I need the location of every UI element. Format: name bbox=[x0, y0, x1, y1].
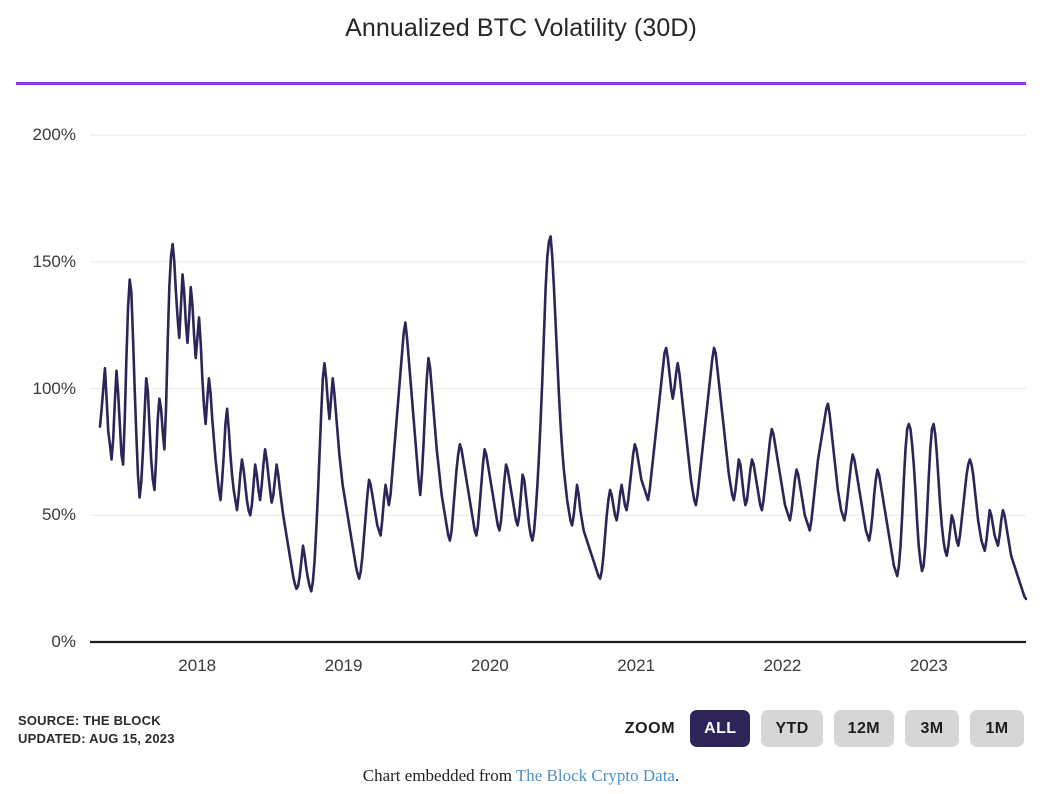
x-tick-label-2023: 2023 bbox=[910, 656, 948, 676]
source-text: SOURCE: THE BLOCK bbox=[18, 712, 175, 730]
volatility-series-line bbox=[100, 236, 1026, 599]
zoom-range-control[interactable]: ZOOM ALLYTD12M3M1M bbox=[625, 710, 1024, 747]
x-tick-label-2018: 2018 bbox=[178, 656, 216, 676]
x-tick-label-2021: 2021 bbox=[617, 656, 655, 676]
updated-text: UPDATED: AUG 15, 2023 bbox=[18, 730, 175, 748]
embed-caption: Chart embedded from The Block Crypto Dat… bbox=[0, 766, 1042, 786]
page-title: Annualized BTC Volatility (30D) bbox=[0, 14, 1042, 43]
zoom-button-12m[interactable]: 12M bbox=[834, 710, 894, 747]
volatility-line-chart bbox=[0, 96, 1042, 696]
zoom-button-1m[interactable]: 1M bbox=[970, 710, 1024, 747]
y-tick-label-100: 100% bbox=[33, 379, 76, 399]
title-divider bbox=[16, 82, 1026, 85]
the-block-crypto-data-link[interactable]: The Block Crypto Data bbox=[516, 766, 675, 785]
x-axis: 201820192020202120222023 bbox=[0, 648, 1042, 682]
y-axis: 0%50%100%150%200% bbox=[0, 96, 88, 656]
y-tick-label-200: 200% bbox=[33, 125, 76, 145]
chart-source-block: SOURCE: THE BLOCK UPDATED: AUG 15, 2023 bbox=[18, 712, 175, 748]
x-tick-label-2019: 2019 bbox=[325, 656, 363, 676]
chart-card: Annualized BTC Volatility (30D) 0%50%100… bbox=[0, 0, 1042, 794]
zoom-button-3m[interactable]: 3M bbox=[905, 710, 959, 747]
zoom-button-ytd[interactable]: YTD bbox=[761, 710, 822, 747]
embed-caption-prefix: Chart embedded from bbox=[363, 766, 516, 785]
x-tick-label-2020: 2020 bbox=[471, 656, 509, 676]
plot-area bbox=[0, 96, 1042, 696]
embed-caption-suffix: . bbox=[675, 766, 679, 785]
y-tick-label-50: 50% bbox=[42, 505, 76, 525]
zoom-label: ZOOM bbox=[625, 720, 675, 738]
x-tick-label-2022: 2022 bbox=[764, 656, 802, 676]
zoom-button-all[interactable]: ALL bbox=[690, 710, 750, 747]
y-tick-label-150: 150% bbox=[33, 252, 76, 272]
